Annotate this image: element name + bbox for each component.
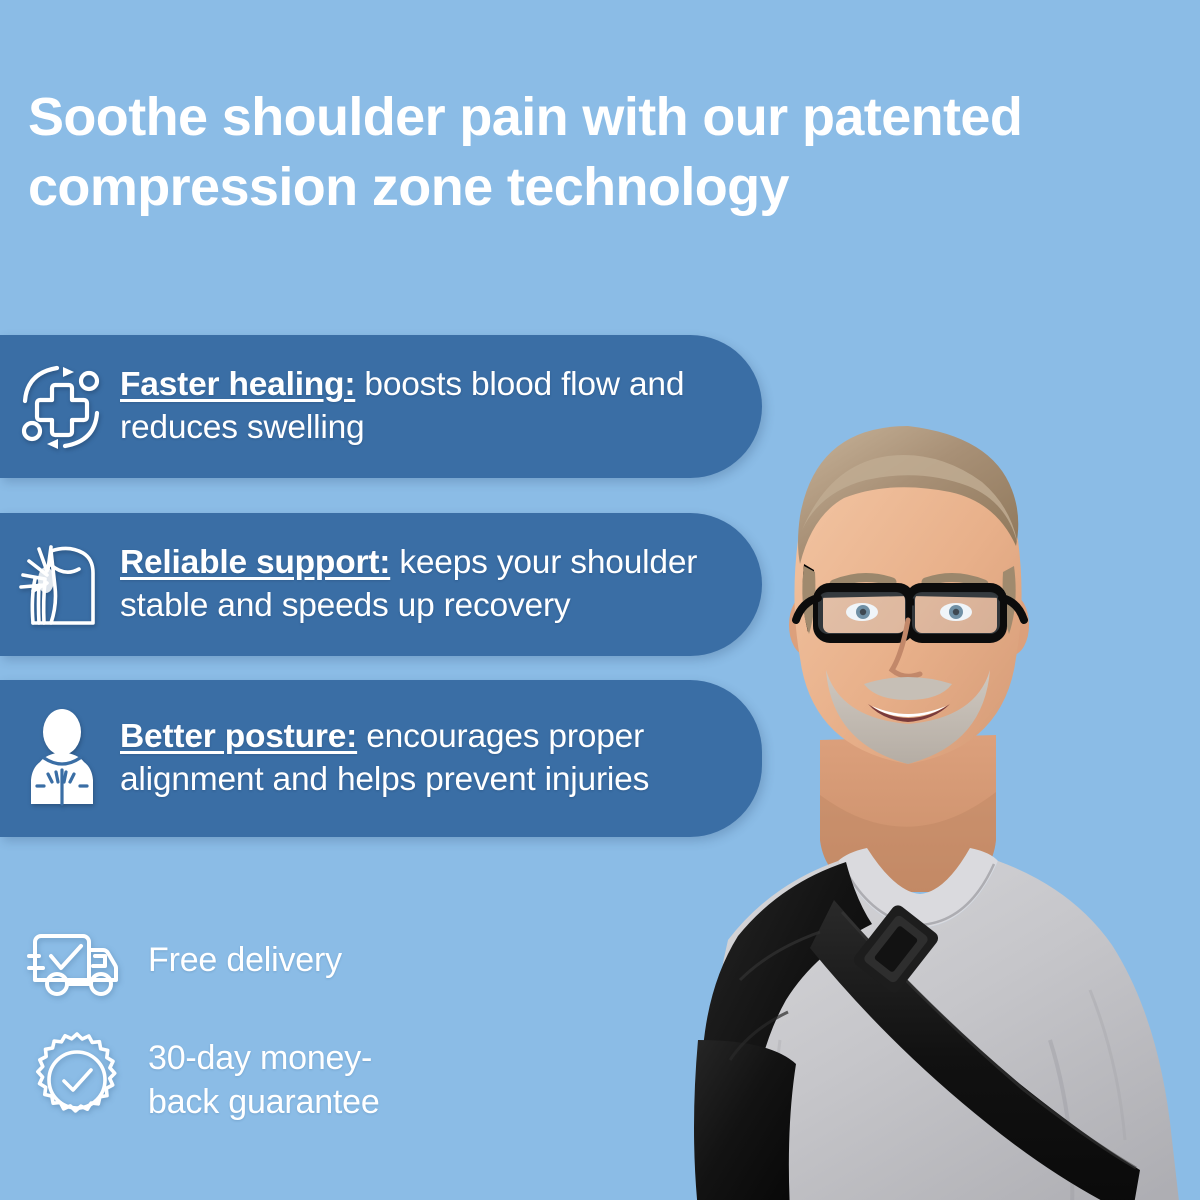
feature-text: Faster healing: boosts blood flow and re… [120, 364, 762, 450]
page-title: Soothe shoulder pain with our patented c… [28, 82, 1178, 222]
feature-label: Reliable support: [120, 544, 390, 581]
badge-free-delivery: Free delivery [22, 905, 342, 1015]
guarantee-seal-icon [22, 1025, 132, 1135]
feature-text: Reliable support: keeps your shoulder st… [120, 542, 762, 628]
feature-card-better-posture: Better posture: encourages proper alignm… [0, 680, 762, 837]
feature-label: Faster healing: [120, 366, 355, 403]
advertisement-canvas: Soothe shoulder pain with our patented c… [0, 0, 1200, 1200]
shoulder-joint-icon [14, 533, 110, 637]
healing-cross-icon [14, 355, 110, 459]
badge-money-back-guarantee: 30-day money- back guarantee [22, 1025, 380, 1135]
feature-card-faster-healing: Faster healing: boosts blood flow and re… [0, 335, 762, 478]
eyeglasses [796, 588, 1024, 638]
badge-label: 30-day money- back guarantee [148, 1036, 380, 1124]
feature-card-reliable-support: Reliable support: keeps your shoulder st… [0, 513, 762, 656]
feature-label: Better posture: [120, 718, 357, 755]
delivery-truck-icon [22, 905, 132, 1015]
badge-label: Free delivery [148, 938, 342, 982]
posture-brace-icon [14, 707, 110, 811]
feature-text: Better posture: encourages proper alignm… [120, 716, 762, 802]
